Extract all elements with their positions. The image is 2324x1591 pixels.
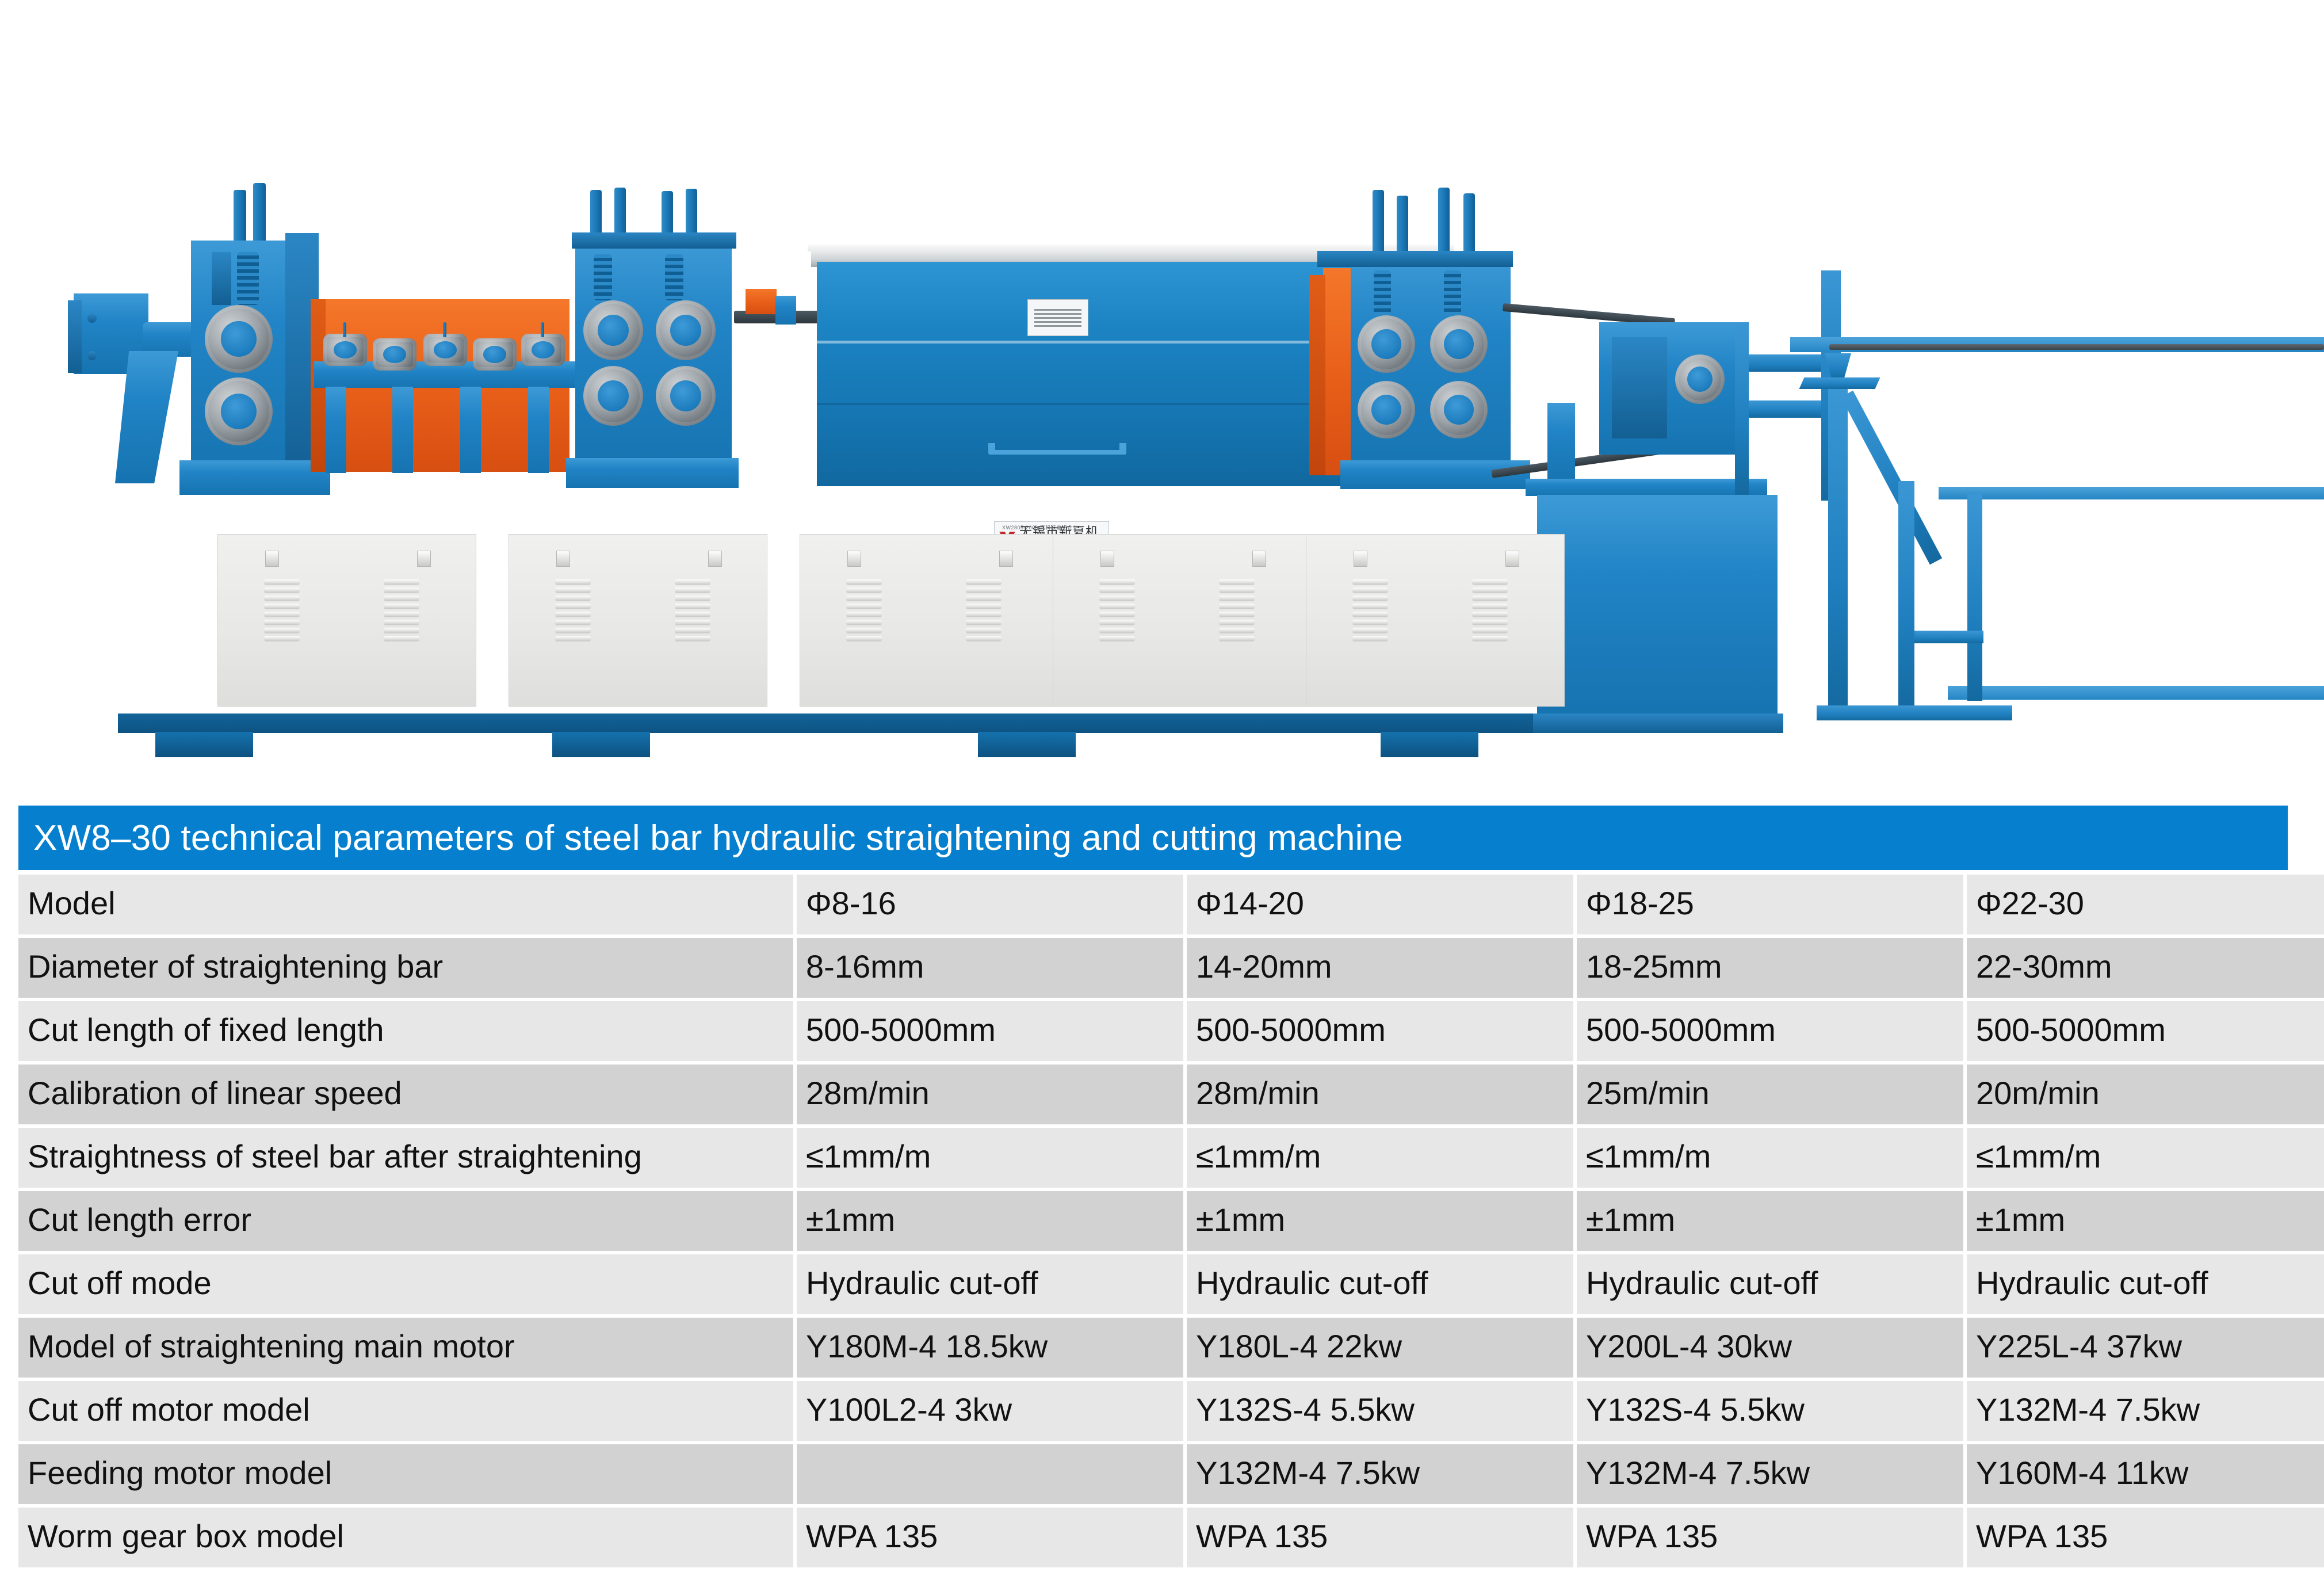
output-rail-middle [1939, 487, 2324, 499]
die-roller-2 [373, 338, 416, 371]
cutoff-pedestal-base [1530, 714, 1783, 733]
door-latch[interactable] [708, 551, 722, 567]
machine-photo: 无锡市新夏机械 XW2805-2000 高科技重点企业 无锡市新夏机械有限公司 … [0, 0, 2324, 794]
cabinet-door-2[interactable] [509, 534, 767, 707]
cabinet-door-4[interactable] [1053, 534, 1312, 707]
output-stand-inner-brace [1914, 631, 1983, 643]
output-stand-inner-post [1967, 494, 1982, 701]
left-drive-bolt-a [87, 314, 97, 323]
die-pin-2 [443, 322, 446, 337]
left-stand-window [212, 252, 231, 305]
machine-foot [1381, 732, 1478, 757]
output-stand-crossbar [1898, 481, 1914, 711]
roller-right-ur [1430, 315, 1488, 373]
spec-row-value: Φ22-30 [1967, 875, 2324, 934]
cutoff-support-column [1547, 403, 1575, 483]
roller-right-lr [1430, 381, 1488, 438]
die-roller-4 [473, 338, 517, 371]
cutoff-gearbox-face [1612, 337, 1667, 438]
right-stand-spring-2 [1444, 270, 1461, 315]
die-carrier-post-1 [326, 387, 346, 473]
mid-stand-base [566, 458, 739, 488]
door-latch[interactable] [265, 551, 279, 567]
spec-table-row: Cut length error±1mm±1mm±1mm±1mm [18, 1191, 2324, 1251]
spec-row-value: 28m/min [1187, 1065, 1573, 1124]
roller-mid-lr [656, 366, 716, 426]
mid-stand-spring-1 [594, 254, 612, 300]
spec-row-value: Hydraulic cut-off [797, 1254, 1183, 1314]
left-stand-spring [237, 252, 259, 305]
spec-row-value: Y180M-4 18.5kw [797, 1318, 1183, 1378]
die-roller-5 [521, 334, 565, 366]
die-pin-1 [343, 322, 346, 337]
spec-row-value: 500-5000mm [797, 1001, 1183, 1061]
spec-row-value: WPA 135 [1187, 1508, 1573, 1567]
spec-row-value: Y180L-4 22kw [1187, 1318, 1573, 1378]
die-roller-1 [323, 334, 367, 366]
nameplate-caption: XW2805-2000 高科技重点企业 [1002, 524, 1079, 531]
straightened-steel-bar [1829, 344, 2324, 350]
spec-row-value: Hydraulic cut-off [1187, 1254, 1573, 1314]
die-carrier-post-4 [528, 387, 549, 473]
spec-row-value: 500-5000mm [1577, 1001, 1963, 1061]
roller-right-ul [1358, 315, 1415, 373]
body-handle-mount-right [1119, 443, 1126, 452]
spec-row-value: 18-25mm [1577, 938, 1963, 998]
spec-row-label: Cut length of fixed length [18, 1001, 793, 1061]
spec-table-row: Straightness of steel bar after straight… [18, 1128, 2324, 1188]
machine-foot [155, 732, 253, 757]
spec-row-value: ≤1mm/m [797, 1128, 1183, 1188]
spec-row-value: 500-5000mm [1967, 1001, 2324, 1061]
orange-exit-guard-shadow [1309, 275, 1325, 475]
coupling-flange [775, 296, 796, 325]
output-rail-bottom [1948, 686, 2324, 700]
spec-table-section: XW8–30 technical parameters of steel bar… [18, 806, 2288, 1571]
roller-mid-ur [656, 300, 716, 360]
spec-row-value: 20m/min [1967, 1065, 2324, 1124]
output-stand-foot [1817, 705, 2012, 720]
die-carrier-post-2 [392, 387, 413, 473]
spec-row-label: Worm gear box model [18, 1508, 793, 1567]
spec-row-value: Y225L-4 37kw [1967, 1318, 2324, 1378]
spec-row-value: Y160M-4 11kw [1967, 1444, 2324, 1504]
spec-row-value: Φ14-20 [1187, 875, 1573, 934]
die-roller-3 [423, 334, 467, 366]
door-louver-vent [1472, 579, 1508, 644]
cutoff-cam-wheel [1675, 354, 1725, 404]
spec-row-value: 28m/min [797, 1065, 1183, 1124]
spec-row-value: ±1mm [1967, 1191, 2324, 1251]
door-louver-vent [1099, 579, 1135, 644]
cutoff-arm-right [1741, 400, 1833, 418]
roller-left-upper [205, 305, 273, 373]
machine-foot [978, 732, 1076, 757]
machine-spec-plate [1027, 299, 1088, 336]
spec-table-row: ModelΦ8-16Φ14-20Φ18-25Φ22-30 [18, 875, 2324, 934]
cabinet-door-1[interactable] [217, 534, 476, 707]
spec-row-value: Y132M-4 7.5kw [1967, 1381, 2324, 1441]
right-stand-screw-1 [1373, 190, 1384, 254]
spec-table-title-bar: XW8–30 technical parameters of steel bar… [18, 806, 2288, 870]
spec-row-label: Cut length error [18, 1191, 793, 1251]
spec-row-value: ≤1mm/m [1967, 1128, 2324, 1188]
spec-row-value: 22-30mm [1967, 938, 2324, 998]
spec-table-row: Cut length of fixed length500-5000mm500-… [18, 1001, 2324, 1061]
spec-table-row: Worm gear box modelWPA 135WPA 135WPA 135… [18, 1508, 2324, 1567]
output-stand-post [1828, 389, 1848, 711]
right-stand-screw-2 [1397, 196, 1408, 254]
right-stand-screw-4 [1463, 193, 1475, 254]
die-carrier-post-3 [460, 387, 481, 473]
spec-row-value: Y100L2-4 3kw [797, 1381, 1183, 1441]
spec-table-row: Model of straightening main motorY180M-4… [18, 1318, 2324, 1378]
spec-table-row: Cut off motor modelY100L2-4 3kwY132S-4 5… [18, 1381, 2324, 1441]
cutoff-frame-vertical-2 [1735, 322, 1749, 495]
door-latch[interactable] [1505, 551, 1519, 567]
spec-row-value: WPA 135 [1967, 1508, 2324, 1567]
spec-row-label: Model [18, 875, 793, 934]
door-latch[interactable] [847, 551, 861, 567]
mid-stand-top-cap [572, 232, 736, 249]
roller-mid-ll [583, 366, 643, 426]
spec-row-value: Φ8-16 [797, 875, 1183, 934]
door-louver-vent [675, 579, 710, 644]
spec-row-value: Hydraulic cut-off [1967, 1254, 2324, 1314]
door-louver-vent [846, 579, 882, 644]
machine-foot [552, 732, 650, 757]
door-latch[interactable] [556, 551, 570, 567]
cabinet-door-3[interactable] [800, 534, 1058, 707]
door-latch[interactable] [999, 551, 1013, 567]
spec-row-label: Feeding motor model [18, 1444, 793, 1504]
spec-row-label: Cut off motor model [18, 1381, 793, 1441]
cutoff-pedestal [1537, 495, 1778, 718]
door-louver-vent [384, 579, 419, 644]
spec-row-value: ≤1mm/m [1577, 1128, 1963, 1188]
mid-stand-spring-2 [665, 254, 683, 300]
spec-row-value: 500-5000mm [1187, 1001, 1573, 1061]
spec-row-value: 14-20mm [1187, 938, 1573, 998]
left-drive-bolt-b [87, 351, 97, 360]
door-latch[interactable] [417, 551, 431, 567]
spec-row-label: Diameter of straightening bar [18, 938, 793, 998]
spec-row-value: Hydraulic cut-off [1577, 1254, 1963, 1314]
roller-right-ll [1358, 381, 1415, 438]
spec-row-value: Y132S-4 5.5kw [1187, 1381, 1573, 1441]
cutoff-arm-left [1741, 354, 1833, 372]
spec-row-value: ±1mm [1577, 1191, 1963, 1251]
machine-bed-bottom [118, 714, 1533, 733]
spec-row-value: ≤1mm/m [1187, 1128, 1573, 1188]
spec-row-value: Y200L-4 30kw [1577, 1318, 1963, 1378]
spec-row-value: Y132S-4 5.5kw [1577, 1381, 1963, 1441]
spec-row-value: Y132M-4 7.5kw [1577, 1444, 1963, 1504]
door-louver-vent [555, 579, 591, 644]
product-spec-page: 无锡市新夏机械 XW2805-2000 高科技重点企业 无锡市新夏机械有限公司 … [0, 0, 2324, 1591]
left-stand-base [179, 460, 330, 495]
body-access-handle [988, 450, 1126, 455]
spec-row-value: WPA 135 [1577, 1508, 1963, 1567]
spec-table-row: Diameter of straightening bar8-16mm14-20… [18, 938, 2324, 998]
door-louver-vent [1352, 579, 1388, 644]
spec-row-value: Y132M-4 7.5kw [1187, 1444, 1573, 1504]
body-handle-mount-left [988, 443, 995, 452]
door-louver-vent [1219, 579, 1255, 644]
spec-row-value: 8-16mm [797, 938, 1183, 998]
spec-row-label: Straightness of steel bar after straight… [18, 1128, 793, 1188]
die-pin-3 [541, 322, 544, 337]
output-stand-diag [1841, 391, 1942, 565]
roller-left-lower [205, 377, 273, 445]
spec-table-row: Feeding motor modelY132M-4 7.5kwY132M-4 … [18, 1444, 2324, 1504]
door-latch[interactable] [1252, 551, 1266, 567]
output-roller-plate [1799, 377, 1880, 389]
right-stand-screw-3 [1438, 188, 1450, 254]
spec-row-value: WPA 135 [797, 1508, 1183, 1567]
spec-table: ModelΦ8-16Φ14-20Φ18-25Φ22-30Diameter of … [15, 871, 2324, 1571]
spec-row-value [797, 1444, 1183, 1504]
door-latch[interactable] [1100, 551, 1114, 567]
spec-table-row: Calibration of linear speed28m/min28m/mi… [18, 1065, 2324, 1124]
left-drive-face [68, 300, 82, 373]
roller-mid-ul [583, 300, 643, 360]
spec-row-label: Calibration of linear speed [18, 1065, 793, 1124]
coupling-guard [746, 289, 777, 314]
door-louver-vent [264, 579, 300, 644]
cutoff-base-plate [1526, 479, 1767, 496]
right-stand-top-cap [1317, 251, 1513, 267]
spec-row-value: 25m/min [1577, 1065, 1963, 1124]
right-stand-spring-1 [1374, 270, 1391, 315]
spec-table-title: XW8–30 technical parameters of steel bar… [33, 818, 1403, 859]
spec-row-value: ±1mm [797, 1191, 1183, 1251]
door-louver-vent [966, 579, 1002, 644]
door-latch[interactable] [1354, 551, 1367, 567]
spec-row-value: ±1mm [1187, 1191, 1573, 1251]
spec-row-label: Cut off mode [18, 1254, 793, 1314]
spec-row-label: Model of straightening main motor [18, 1318, 793, 1378]
spec-row-value: Φ18-25 [1577, 875, 1963, 934]
spec-table-row: Cut off modeHydraulic cut-offHydraulic c… [18, 1254, 2324, 1314]
cabinet-door-5[interactable] [1306, 534, 1565, 707]
